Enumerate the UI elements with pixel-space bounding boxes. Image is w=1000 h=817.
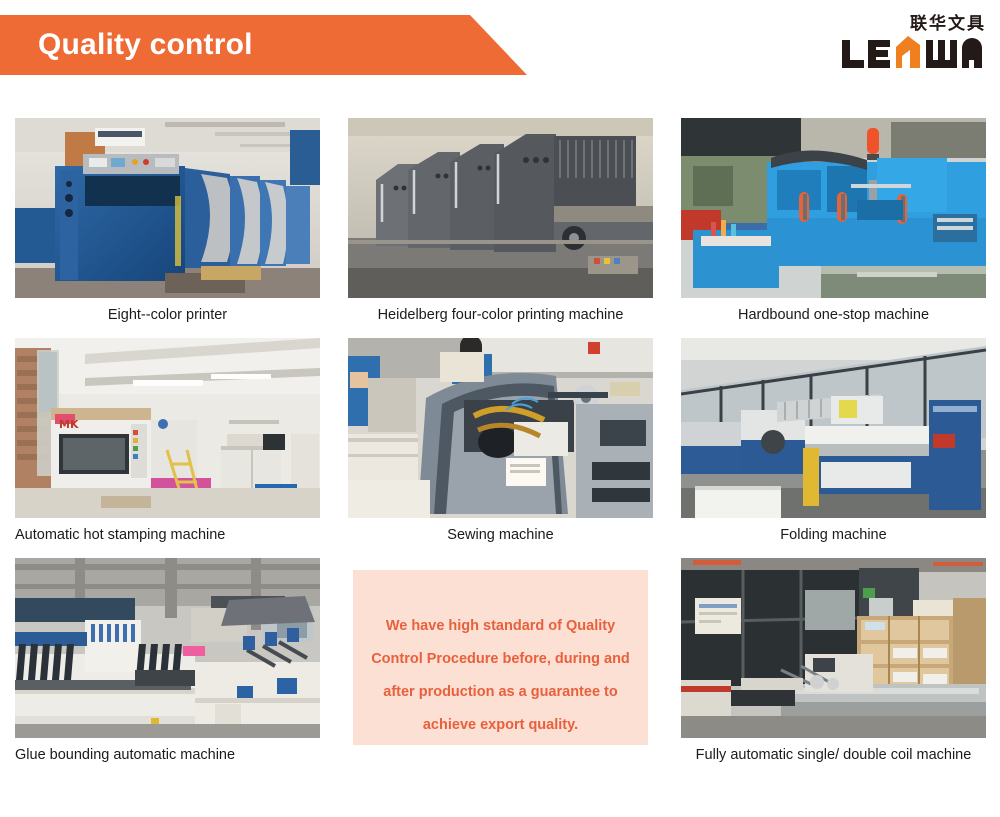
quality-statement-text: We have high standard of Quality Control… bbox=[353, 610, 648, 742]
quality-statement-line: after production as a guarantee to bbox=[363, 676, 638, 709]
gallery-caption: Eight--color printer bbox=[15, 298, 320, 325]
logo-chinese-name: 联华文具 bbox=[840, 14, 986, 34]
photo-eight-color-printer bbox=[15, 118, 320, 298]
photo-sewing-machine bbox=[348, 338, 653, 518]
gallery-item: Hardbound one-stop machine bbox=[681, 118, 986, 325]
gallery-caption: Glue bounding automatic machine bbox=[15, 738, 320, 765]
quality-statement-line: We have high standard of Quality bbox=[363, 610, 638, 643]
gallery-item: Eight--color printer bbox=[15, 118, 320, 325]
photo-folding-machine bbox=[681, 338, 986, 518]
photo-heidelberg-four-color bbox=[348, 118, 653, 298]
page-header: Quality control 联华文具 bbox=[0, 0, 1000, 100]
photo-glue-binding-machine bbox=[15, 558, 320, 738]
gallery-caption: Heidelberg four-color printing machine bbox=[348, 298, 653, 325]
quality-statement-line: Control Procedure before, during and bbox=[363, 643, 638, 676]
svg-text:MK: MK bbox=[59, 418, 79, 431]
gallery-item: Heidelberg four-color printing machine bbox=[348, 118, 653, 325]
gallery-caption: Automatic hot stamping machine bbox=[15, 518, 320, 545]
page-title: Quality control bbox=[38, 15, 458, 75]
gallery-item: Glue bounding automatic machine bbox=[15, 558, 320, 765]
quality-statement-line: achieve export quality. bbox=[363, 709, 638, 742]
gallery-item: MK bbox=[15, 338, 320, 545]
quality-statement-panel: We have high standard of Quality Control… bbox=[353, 570, 648, 745]
gallery-caption: Folding machine bbox=[681, 518, 986, 545]
gallery-item: Sewing machine bbox=[348, 338, 653, 545]
photo-hardbound-one-stop bbox=[681, 118, 986, 298]
company-logo: 联华文具 bbox=[840, 14, 986, 76]
gallery-caption: Fully automatic single/ double coil mach… bbox=[681, 738, 986, 765]
logo-wordmark-lenwa bbox=[840, 36, 986, 72]
gallery-caption: Hardbound one-stop machine bbox=[681, 298, 986, 325]
gallery-caption: Sewing machine bbox=[348, 518, 653, 545]
gallery-item: Fully automatic single/ double coil mach… bbox=[681, 558, 986, 765]
photo-hot-stamping-machine: MK bbox=[15, 338, 320, 518]
gallery-item: Folding machine bbox=[681, 338, 986, 545]
photo-coil-machine bbox=[681, 558, 986, 738]
